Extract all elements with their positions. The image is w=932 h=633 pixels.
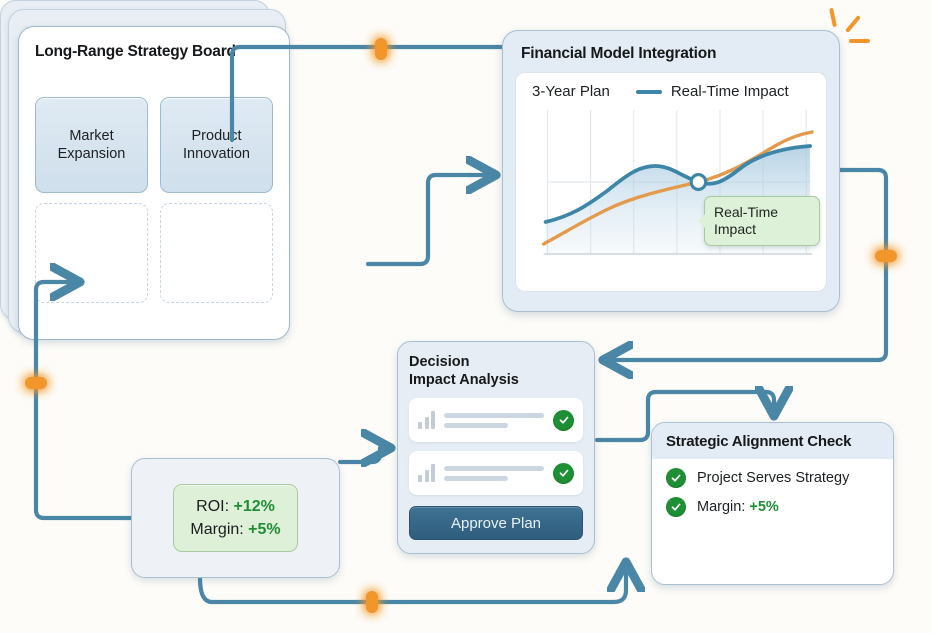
- strategic-alignment-check-card[interactable]: Strategic Alignment Check Project Serves…: [651, 422, 894, 585]
- connector-marker-right[interactable]: [875, 250, 897, 262]
- chart-svg: [526, 104, 816, 272]
- check-icon: [553, 463, 574, 484]
- sparkle-icon: [849, 39, 870, 43]
- metric-margin: Margin: +5%: [190, 518, 280, 541]
- financial-card-title: Financial Model Integration: [521, 45, 827, 63]
- decision-card-title: Decision Impact Analysis: [409, 354, 583, 389]
- bar-chart-icon: [418, 464, 435, 482]
- metric-roi-label: ROI:: [196, 498, 229, 515]
- metric-margin-value: +5%: [248, 521, 280, 538]
- alignment-item-label: Margin: +5%: [697, 499, 779, 515]
- check-icon: [666, 497, 686, 517]
- legend-swatch-icon: [636, 90, 662, 94]
- legend-item-impact: Real-Time Impact: [636, 83, 789, 100]
- alignment-item-value: +5%: [749, 499, 778, 515]
- alignment-item-label: Project Serves Strategy: [697, 470, 849, 486]
- chart-plot-area: Real-Time Impact: [526, 104, 816, 272]
- approve-plan-button[interactable]: Approve Plan: [409, 506, 583, 540]
- metrics-pill: ROI: +12% Margin: +5%: [173, 484, 297, 552]
- diagram-canvas: Long-Range Strategy Board Market Expansi…: [0, 0, 932, 633]
- decision-row[interactable]: [409, 451, 583, 495]
- alignment-card-title: Strategic Alignment Check: [652, 423, 893, 459]
- chart-crossover-marker[interactable]: [691, 175, 706, 190]
- connector-board-to-chart-top: [232, 47, 502, 140]
- chart-legend: 3-Year Plan Real-Time Impact: [526, 81, 816, 104]
- chart-tooltip: Real-Time Impact: [704, 196, 820, 246]
- decision-title-line-1: Decision: [409, 354, 583, 372]
- legend-label: Real-Time Impact: [671, 83, 789, 100]
- metric-roi-value: +12%: [233, 498, 274, 515]
- decision-row-placeholder-text: [444, 466, 544, 481]
- connector-marker-left[interactable]: [25, 377, 47, 389]
- metric-roi: ROI: +12%: [190, 495, 280, 518]
- metric-margin-label: Margin:: [190, 521, 243, 538]
- alignment-item-project-serves-strategy: Project Serves Strategy: [652, 459, 893, 488]
- alignment-item-margin: Margin: +5%: [652, 488, 893, 517]
- approve-plan-label: Approve Plan: [451, 515, 541, 532]
- chart-panel: 3-Year Plan Real-Time Impact: [515, 72, 827, 292]
- connector-metrics-to-decision: [340, 448, 387, 462]
- tooltip-line-2: Impact: [714, 221, 810, 238]
- connector-marker-top[interactable]: [375, 38, 387, 60]
- legend-label: 3-Year Plan: [532, 83, 610, 100]
- decision-row-placeholder-text: [444, 413, 544, 428]
- financial-model-integration-card[interactable]: Financial Model Integration 3-Year Plan …: [502, 30, 840, 312]
- tooltip-line-1: Real-Time: [714, 204, 810, 221]
- connector-metrics-to-board: [36, 282, 131, 518]
- check-icon: [666, 468, 686, 488]
- decision-impact-analysis-card[interactable]: Decision Impact Analysis Approve Plan: [397, 341, 595, 554]
- decision-title-line-2: Impact Analysis: [409, 372, 583, 390]
- connector-board-to-chart: [368, 175, 492, 264]
- check-icon: [553, 410, 574, 431]
- legend-item-plan: 3-Year Plan: [532, 83, 610, 100]
- connector-marker-bottom[interactable]: [366, 591, 378, 613]
- decision-row[interactable]: [409, 398, 583, 442]
- bar-chart-icon: [418, 411, 435, 429]
- metrics-card[interactable]: ROI: +12% Margin: +5%: [131, 458, 340, 578]
